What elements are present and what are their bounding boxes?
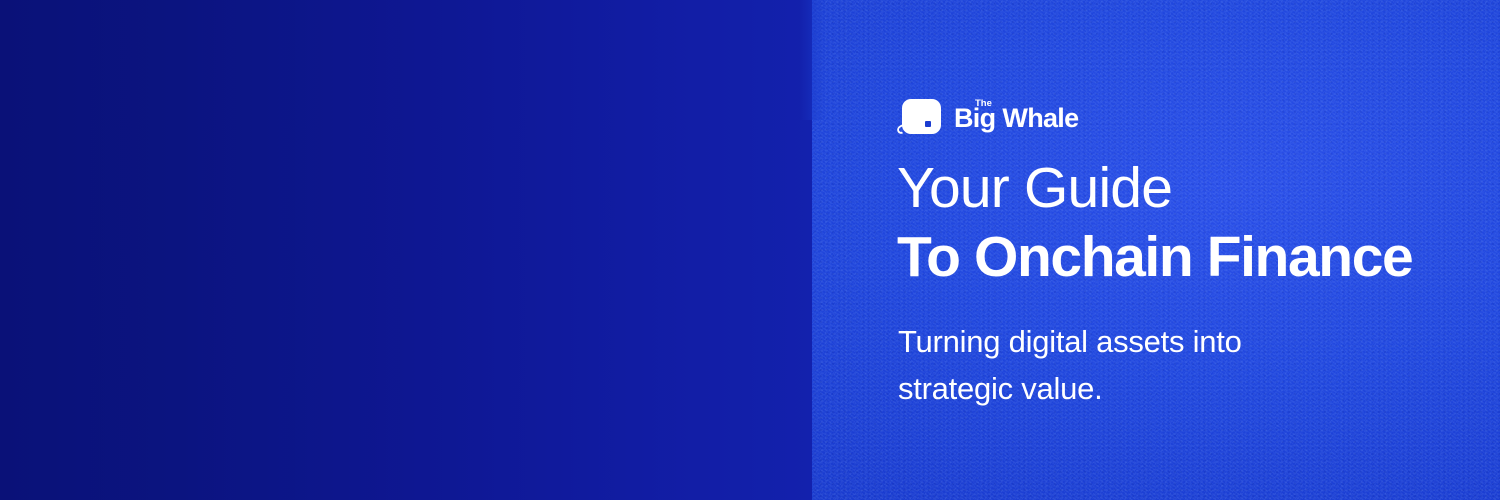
whale-eye-shape (925, 121, 931, 127)
promo-banner: TheBigWhale Your Guide To Onchain Financ… (0, 0, 1500, 500)
subtitle-line-1: Turning digital assets into (898, 318, 1358, 365)
background-panel-left (0, 0, 812, 500)
subtitle-line-2: strategic value. (898, 365, 1358, 412)
brand-wordmark: TheBigWhale (954, 101, 1078, 132)
wordmark-whale: Whale (1002, 103, 1078, 133)
brand-logo[interactable]: TheBigWhale (897, 96, 1078, 136)
headline-line-1: Your Guide (897, 160, 1497, 217)
whale-body-shape (902, 99, 941, 134)
whale-logo-icon (897, 96, 945, 136)
page-title: Your Guide To Onchain Finance (897, 160, 1497, 288)
wordmark-the: The (975, 99, 992, 109)
banner-content: TheBigWhale Your Guide To Onchain Financ… (897, 0, 1467, 500)
page-subtitle: Turning digital assets into strategic va… (898, 318, 1358, 412)
headline-line-2: To Onchain Finance (897, 228, 1497, 288)
